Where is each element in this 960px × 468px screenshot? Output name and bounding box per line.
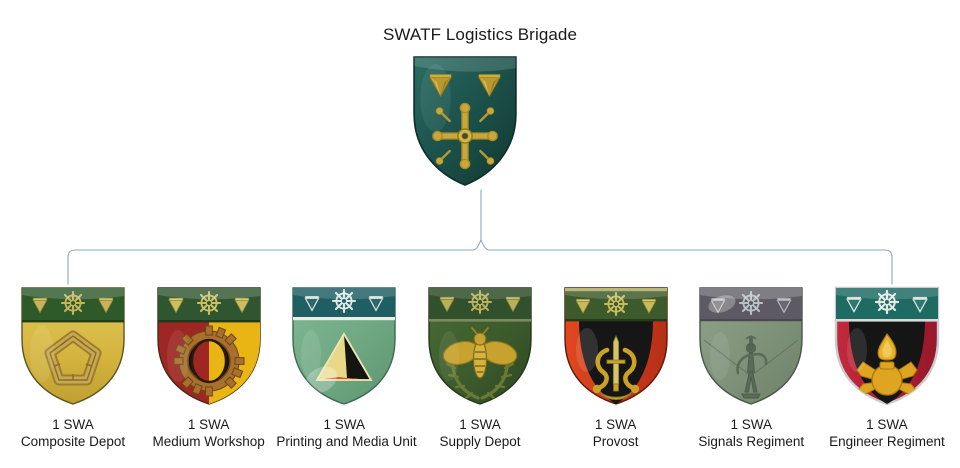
node-label-line1: 1 SWA <box>548 416 684 433</box>
children-row: 1 SWA Composite Depot <box>0 284 960 468</box>
node-label: 1 SWA Engineer Regiment <box>819 416 955 450</box>
node-label-line1: 1 SWA <box>819 416 955 433</box>
root-shield-badge <box>409 52 521 190</box>
node-label: 1 SWA Provost <box>548 416 684 450</box>
node-label: 1 SWA Signals Regiment <box>683 416 819 450</box>
node-label-line1: 1 SWA <box>276 416 412 433</box>
node-supply-depot[interactable]: 1 SWA Supply Depot <box>415 284 545 450</box>
shield-printing-and-media-unit <box>289 284 399 408</box>
node-label: 1 SWA Medium Workshop <box>141 416 277 450</box>
node-label-line2: Medium Workshop <box>141 433 277 450</box>
node-label-line1: 1 SWA <box>412 416 548 433</box>
shield-engineer-regiment <box>832 284 942 408</box>
node-label-line1: 1 SWA <box>5 416 141 433</box>
node-label: 1 SWA Composite Depot <box>5 416 141 450</box>
node-label-line1: 1 SWA <box>683 416 819 433</box>
node-label-line2: Supply Depot <box>412 433 548 450</box>
node-label-line1: 1 SWA <box>141 416 277 433</box>
node-engineer-regiment[interactable]: 1 SWA Engineer Regiment <box>822 284 952 450</box>
node-label-line2: Signals Regiment <box>683 433 819 450</box>
node-signals-regiment[interactable]: 1 SWA Signals Regiment <box>686 284 816 450</box>
root-node-swatf-logistics-brigade[interactable] <box>409 52 521 190</box>
node-label-line2: Composite Depot <box>5 433 141 450</box>
node-medium-workshop[interactable]: 1 SWA Medium Workshop <box>144 284 274 450</box>
node-printing-and-media-unit[interactable]: 1 SWA Printing and Media Unit <box>279 284 409 450</box>
node-label-line2: Printing and Media Unit <box>276 433 412 450</box>
node-composite-depot[interactable]: 1 SWA Composite Depot <box>8 284 138 450</box>
node-label: 1 SWA Supply Depot <box>412 416 548 450</box>
page-title: SWATF Logistics Brigade <box>0 25 960 45</box>
node-label-line2: Provost <box>548 433 684 450</box>
org-chart: SWATF Logistics Brigade <box>0 0 960 468</box>
shield-medium-workshop <box>154 284 264 408</box>
shield-signals-regiment <box>696 284 806 408</box>
shield-composite-depot <box>18 284 128 408</box>
node-label: 1 SWA Printing and Media Unit <box>276 416 412 450</box>
node-provost[interactable]: 1 SWA Provost <box>551 284 681 450</box>
compass-rose-icon <box>433 103 497 168</box>
shield-provost <box>561 284 671 408</box>
node-label-line2: Engineer Regiment <box>819 433 955 450</box>
shield-supply-depot <box>425 284 535 408</box>
